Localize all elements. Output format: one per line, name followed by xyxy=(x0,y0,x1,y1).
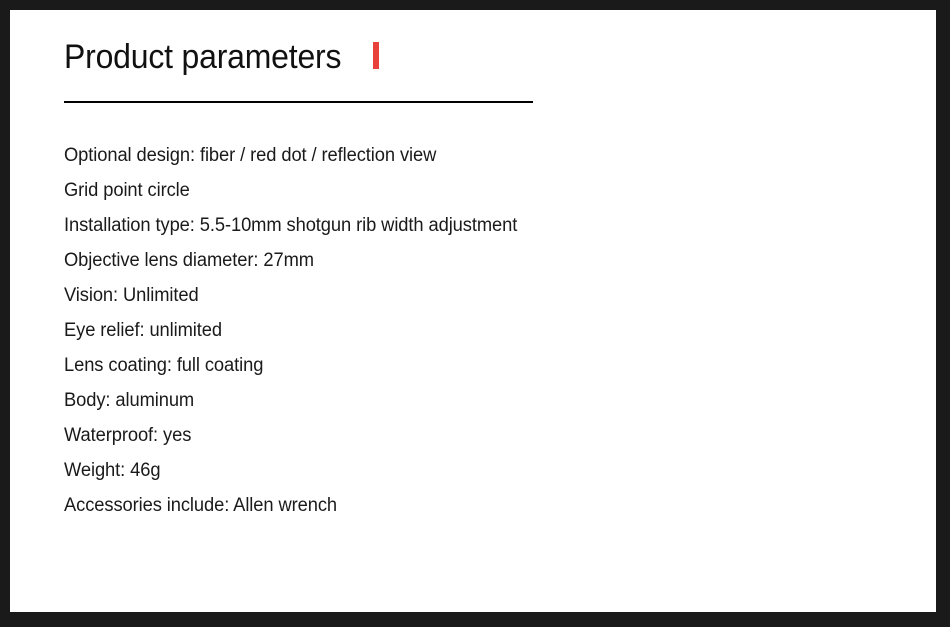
list-item: Installation type: 5.5-10mm shotgun rib … xyxy=(64,208,886,243)
list-item: Accessories include: Allen wrench xyxy=(64,488,886,523)
list-item: Vision: Unlimited xyxy=(64,278,886,313)
list-item: Waterproof: yes xyxy=(64,418,886,453)
list-item: Objective lens diameter: 27mm xyxy=(64,243,886,278)
list-item: Grid point circle xyxy=(64,173,886,208)
section-header: Product parameters xyxy=(64,40,533,103)
list-item: Eye relief: unlimited xyxy=(64,313,886,348)
page-title: Product parameters xyxy=(64,40,341,74)
title-underline-divider xyxy=(64,101,533,103)
list-item: Body: aluminum xyxy=(64,383,886,418)
section-header-row: Product parameters xyxy=(64,40,533,92)
list-item: Lens coating: full coating xyxy=(64,348,886,383)
product-parameters-card: Product parameters Optional design: fibe… xyxy=(0,0,950,627)
spec-list: Optional design: fiber / red dot / refle… xyxy=(64,138,916,523)
red-bar-icon xyxy=(373,42,379,69)
list-item: Optional design: fiber / red dot / refle… xyxy=(64,138,886,173)
list-item: Weight: 46g xyxy=(64,453,886,488)
content-area: Product parameters Optional design: fibe… xyxy=(64,40,916,612)
page-surface: Product parameters Optional design: fibe… xyxy=(10,10,936,612)
